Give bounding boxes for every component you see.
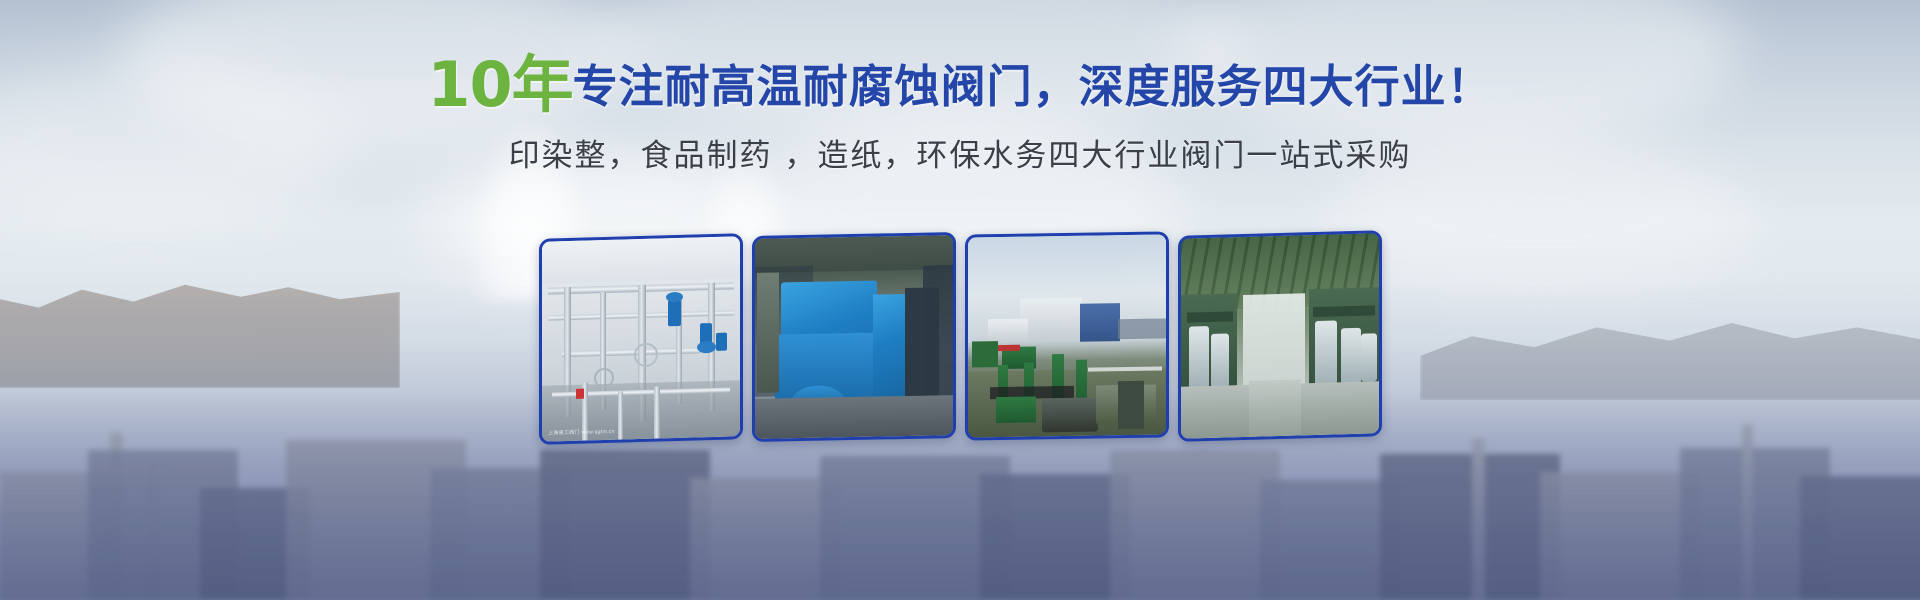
title-main-text: 专注耐高温耐腐蚀阀门，深度服务四大行业！ — [573, 60, 1493, 113]
photo-card-blue-textile-dyeing-line[interactable] — [752, 232, 956, 442]
photo-image — [968, 234, 1166, 437]
photo-image — [1181, 233, 1379, 439]
photo-card-stainless-pipework-plant[interactable]: 上海泉工阀门 www.qgfm.cn — [539, 233, 743, 445]
photo-card-green-roof-machine-hall[interactable] — [1178, 230, 1382, 442]
title-years-accent: 10年 — [427, 48, 572, 121]
hero-banner: 10年专注耐高温耐腐蚀阀门，深度服务四大行业！ 印染整，食品制药 ，造纸，环保水… — [0, 0, 1920, 600]
photo-image — [755, 235, 953, 439]
photo-image: 上海泉工阀门 www.qgfm.cn — [542, 236, 740, 442]
page-subtitle: 印染整，食品制药 ，造纸，环保水务四大行业阀门一站式采购 — [0, 130, 1920, 175]
banner-copy: 10年专注耐高温耐腐蚀阀门，深度服务四大行业！ 印染整，食品制药 ，造纸，环保水… — [0, 54, 1920, 175]
photo-strip: 上海泉工阀门 www.qgfm.cn — [0, 232, 1920, 442]
photo-card-outdoor-process-equipment[interactable] — [965, 231, 1169, 440]
page-title: 10年专注耐高温耐腐蚀阀门，深度服务四大行业！ — [0, 54, 1920, 116]
